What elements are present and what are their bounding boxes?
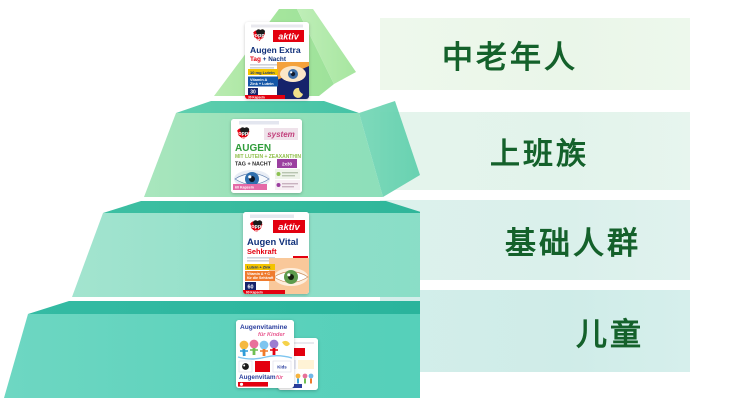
svg-text:herz: herz [252, 228, 262, 234]
svg-text:60 Kapseln: 60 Kapseln [235, 186, 254, 190]
svg-text:herz: herz [239, 135, 249, 141]
product-3-artwork: Doppel herz aktiv Augen Vital Sehkraft N… [243, 212, 309, 294]
pyramid-graphic [0, 0, 420, 420]
tier-4-front-face [4, 314, 420, 398]
product-box-augen-system[interactable]: Doppel herz system AUGEN MIT LUTEIN + ZE… [231, 119, 302, 193]
tier-2-top-strip [176, 101, 359, 113]
diagram-canvas: 中老年人 上班族 基础人群 儿童 [0, 0, 750, 420]
svg-text:Sehkraft: Sehkraft [247, 247, 277, 256]
product-4a-artwork: Augenvitamine für Kinder [236, 320, 294, 388]
svg-text:AUGEN: AUGEN [235, 143, 271, 154]
product-1-artwork: Doppel herz aktiv Augen Extra Tag + Nach… [245, 22, 309, 99]
svg-text:herz: herz [255, 38, 266, 44]
product-3-count: 60 Kapseln [246, 290, 263, 294]
svg-text:für die Sehkraft: für die Sehkraft [247, 276, 274, 280]
product-2-artwork: Doppel herz system AUGEN MIT LUTEIN + ZE… [231, 119, 302, 193]
svg-text:für Kinder: für Kinder [258, 332, 286, 338]
product-box-augen-extra[interactable]: Doppel herz aktiv Augen Extra Tag + Nach… [245, 22, 309, 99]
svg-text:system: system [267, 130, 295, 139]
svg-text:TAG + NACHT: TAG + NACHT [235, 162, 272, 168]
svg-text:2x30: 2x30 [282, 162, 293, 167]
tier-4-top-strip [28, 301, 420, 314]
kid-figures-4b [296, 374, 314, 384]
svg-text:Tag + Nacht: Tag + Nacht [250, 56, 287, 63]
audience-band-1: 中老年人 [380, 18, 690, 90]
svg-text:Kids: Kids [277, 365, 287, 370]
svg-text:Augenvitamine: Augenvitamine [240, 324, 288, 331]
product-1-count: 30 Kapseln [248, 95, 265, 99]
audience-band-4: 儿童 [380, 290, 690, 372]
audience-label-general-population: 基础人群 [505, 218, 641, 263]
audience-band-2: 上班族 [380, 112, 690, 190]
svg-text:Augen Extra: Augen Extra [250, 45, 301, 55]
audience-label-elderly: 中老年人 [442, 32, 578, 77]
svg-text:Augen Vital: Augen Vital [247, 236, 298, 247]
audience-label-children: 儿童 [576, 309, 644, 354]
svg-text:aktiv: aktiv [278, 222, 300, 233]
svg-text:Augenvitam: Augenvitam [239, 374, 276, 381]
audience-band-3: 基础人群 [380, 200, 690, 280]
svg-text:Zink + Lutein: Zink + Lutein [250, 82, 274, 86]
eye-artwork-1 [277, 62, 309, 99]
svg-text:Lutein + Zink: Lutein + Zink [247, 266, 271, 270]
svg-text:für: für [276, 375, 284, 381]
product-box-augen-vital[interactable]: Doppel herz aktiv Augen Vital Sehkraft N… [243, 212, 309, 294]
audience-label-office-workers: 上班族 [490, 129, 589, 173]
svg-text:10 mg Lutein: 10 mg Lutein [250, 70, 275, 75]
product-box-augenvitamine-kinder[interactable]: Augenvitamine für Kinder [236, 320, 294, 388]
pyramid-tier-4 [4, 301, 420, 398]
svg-text:aktiv: aktiv [278, 32, 300, 42]
